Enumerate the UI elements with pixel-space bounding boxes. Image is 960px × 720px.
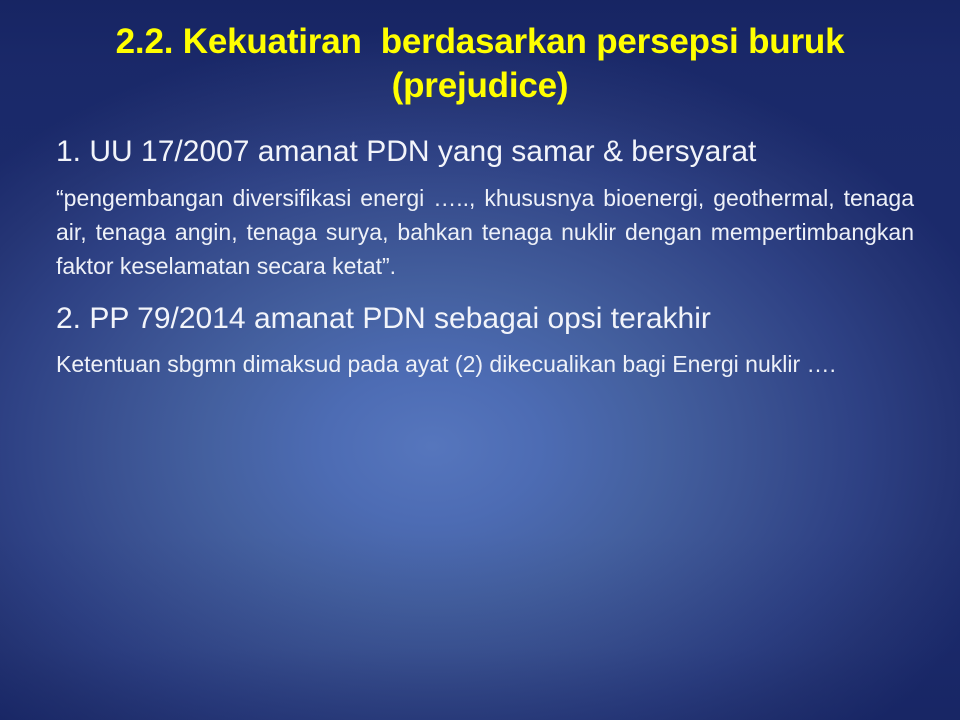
slide-body: 1. UU 17/2007 amanat PDN yang samar & be… <box>56 132 914 381</box>
spacer <box>56 339 914 347</box>
slide-content: 2.2. Kekuatiran berdasarkan persepsi bur… <box>0 0 960 720</box>
spacer <box>56 283 914 299</box>
spacer <box>56 172 914 181</box>
presentation-slide: 2.2. Kekuatiran berdasarkan persepsi bur… <box>0 0 960 720</box>
list-item-heading-2: 2. PP 79/2014 amanat PDN sebagai opsi te… <box>56 299 914 339</box>
list-item-paragraph-2: Ketentuan sbgmn dimaksud pada ayat (2) d… <box>56 347 914 381</box>
page-title-line-2: (prejudice) <box>50 64 910 108</box>
slide-title-block: 2.2. Kekuatiran berdasarkan persepsi bur… <box>50 20 910 108</box>
list-item-paragraph-1: “pengembangan diversifikasi energi ….., … <box>56 181 914 283</box>
list-item-heading-1: 1. UU 17/2007 amanat PDN yang samar & be… <box>56 132 914 172</box>
page-title-line-1: 2.2. Kekuatiran berdasarkan persepsi bur… <box>50 20 910 64</box>
